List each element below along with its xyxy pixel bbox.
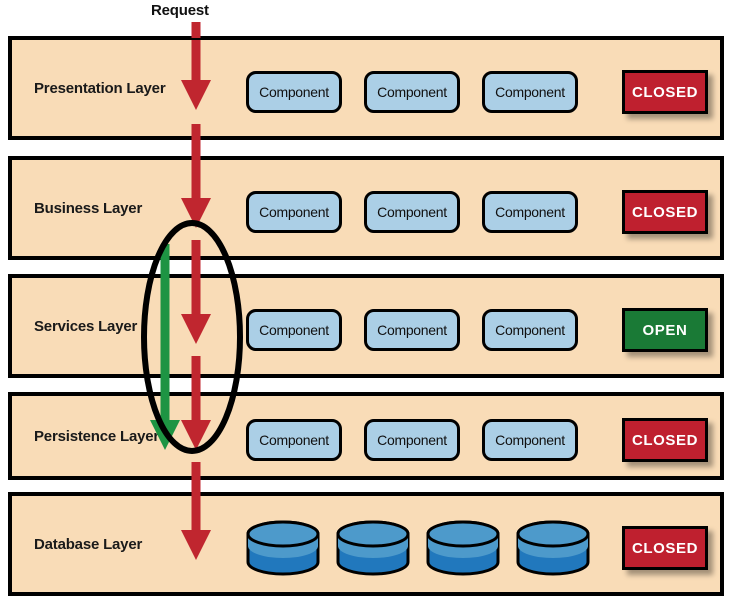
component-box[interactable]: Component bbox=[364, 191, 460, 233]
layer-band-persistence-layer[interactable]: Persistence LayerComponentComponentCompo… bbox=[8, 392, 724, 480]
database-cylinder[interactable] bbox=[336, 520, 410, 576]
component-box[interactable]: Component bbox=[246, 71, 342, 113]
layer-label: Presentation Layer bbox=[34, 80, 165, 97]
status-badge-open[interactable]: OPEN bbox=[622, 308, 708, 352]
component-box[interactable]: Component bbox=[482, 419, 578, 461]
component-box[interactable]: Component bbox=[364, 71, 460, 113]
status-badge-closed[interactable]: CLOSED bbox=[622, 418, 708, 462]
component-box[interactable]: Component bbox=[364, 419, 460, 461]
layer-label: Persistence Layer bbox=[34, 428, 159, 445]
layer-band-presentation-layer[interactable]: Presentation LayerComponentComponentComp… bbox=[8, 36, 724, 140]
status-badge-closed[interactable]: CLOSED bbox=[622, 70, 708, 114]
database-cylinder[interactable] bbox=[246, 520, 320, 576]
layer-band-business-layer[interactable]: Business LayerComponentComponentComponen… bbox=[8, 156, 724, 260]
layer-band-database-layer[interactable]: Database LayerCLOSED bbox=[8, 492, 724, 596]
layered-architecture-diagram: Request Presentation LayerComponentCompo… bbox=[0, 0, 737, 606]
component-box[interactable]: Component bbox=[364, 309, 460, 351]
request-label: Request bbox=[151, 2, 209, 19]
layer-label: Services Layer bbox=[34, 318, 137, 335]
component-box[interactable]: Component bbox=[246, 191, 342, 233]
layer-band-services-layer[interactable]: Services LayerComponentComponentComponen… bbox=[8, 274, 724, 378]
database-cylinder[interactable] bbox=[516, 520, 590, 576]
status-badge-closed[interactable]: CLOSED bbox=[622, 190, 708, 234]
component-box[interactable]: Component bbox=[482, 191, 578, 233]
component-box[interactable]: Component bbox=[246, 309, 342, 351]
status-badge-closed[interactable]: CLOSED bbox=[622, 526, 708, 570]
layer-label: Database Layer bbox=[34, 536, 142, 553]
database-cylinder[interactable] bbox=[426, 520, 500, 576]
layer-label: Business Layer bbox=[34, 200, 142, 217]
component-box[interactable]: Component bbox=[246, 419, 342, 461]
component-box[interactable]: Component bbox=[482, 71, 578, 113]
component-box[interactable]: Component bbox=[482, 309, 578, 351]
